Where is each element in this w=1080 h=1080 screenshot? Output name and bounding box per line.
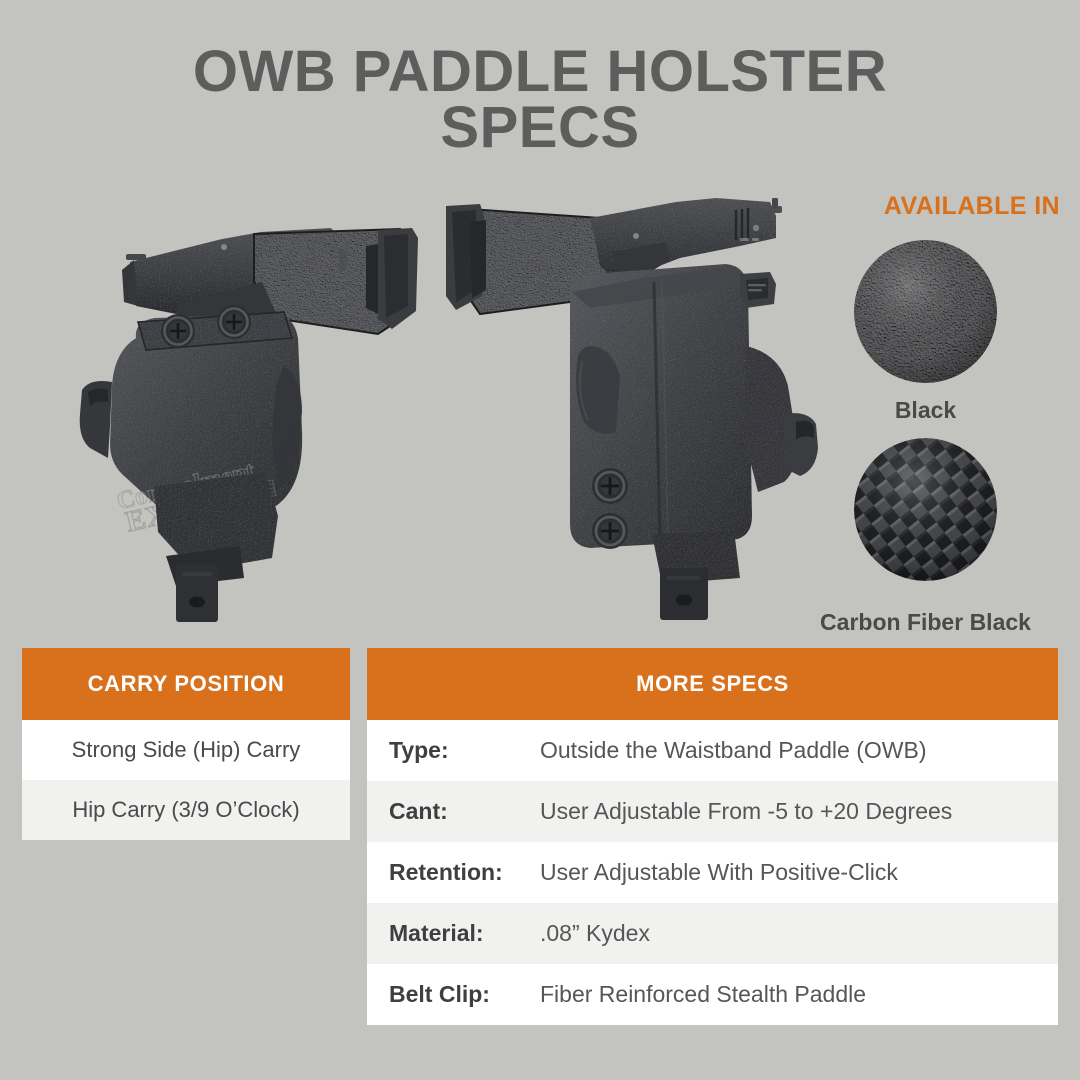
spec-label: Belt Clip: [389, 981, 490, 1008]
spec-value: .08” Kydex [540, 920, 650, 947]
spec-row-cant: Cant: User Adjustable From -5 to +20 Deg… [367, 781, 1058, 842]
spec-row-belt-clip: Belt Clip: Fiber Reinforced Stealth Padd… [367, 964, 1058, 1025]
retention-screw [592, 513, 628, 549]
spec-value: Outside the Waistband Paddle (OWB) [540, 737, 927, 764]
retention-screw [592, 468, 628, 504]
retention-screw [161, 314, 195, 348]
spec-label: Type: [389, 737, 449, 764]
carbon-fiber-swatch-label: Carbon Fiber Black [820, 609, 1031, 636]
retention-screw [217, 305, 251, 339]
spec-value: User Adjustable With Positive-Click [540, 859, 898, 886]
spec-value: Fiber Reinforced Stealth Paddle [540, 981, 866, 1008]
page-title-line-1: OWB PADDLE HOLSTER [0, 44, 1080, 100]
color-swatch-carbon-fiber-black[interactable]: Carbon Fiber Black [854, 438, 997, 581]
spec-row-retention: Retention: User Adjustable With Positive… [367, 842, 1058, 903]
spec-label: Retention: [389, 859, 503, 886]
carry-position-row: Strong Side (Hip) Carry [22, 720, 350, 780]
more-specs-table: MORE SPECS Type: Outside the Waistband P… [367, 648, 1058, 1025]
page-title: OWB PADDLE HOLSTER SPECS [0, 44, 1080, 155]
spec-label: Material: [389, 920, 484, 947]
black-swatch-circle [854, 240, 997, 383]
spec-label: Cant: [389, 798, 448, 825]
product-image-front-view: Concealment EXPRESS [26, 186, 426, 626]
carry-position-header: CARRY POSITION [22, 648, 350, 720]
carbon-fiber-swatch-circle [854, 438, 997, 581]
carry-position-row: Hip Carry (3/9 O’Clock) [22, 780, 350, 840]
more-specs-header: MORE SPECS [367, 648, 1058, 720]
spec-row-material: Material: .08” Kydex [367, 903, 1058, 964]
color-swatch-black[interactable]: Black [854, 240, 997, 424]
spec-row-type: Type: Outside the Waistband Paddle (OWB) [367, 720, 1058, 781]
spec-value: User Adjustable From -5 to +20 Degrees [540, 798, 952, 825]
page-title-line-2: SPECS [0, 100, 1080, 156]
carry-position-table: CARRY POSITION Strong Side (Hip) Carry H… [22, 648, 350, 840]
black-swatch-label: Black [854, 397, 997, 424]
product-image-rear-view [440, 186, 840, 626]
